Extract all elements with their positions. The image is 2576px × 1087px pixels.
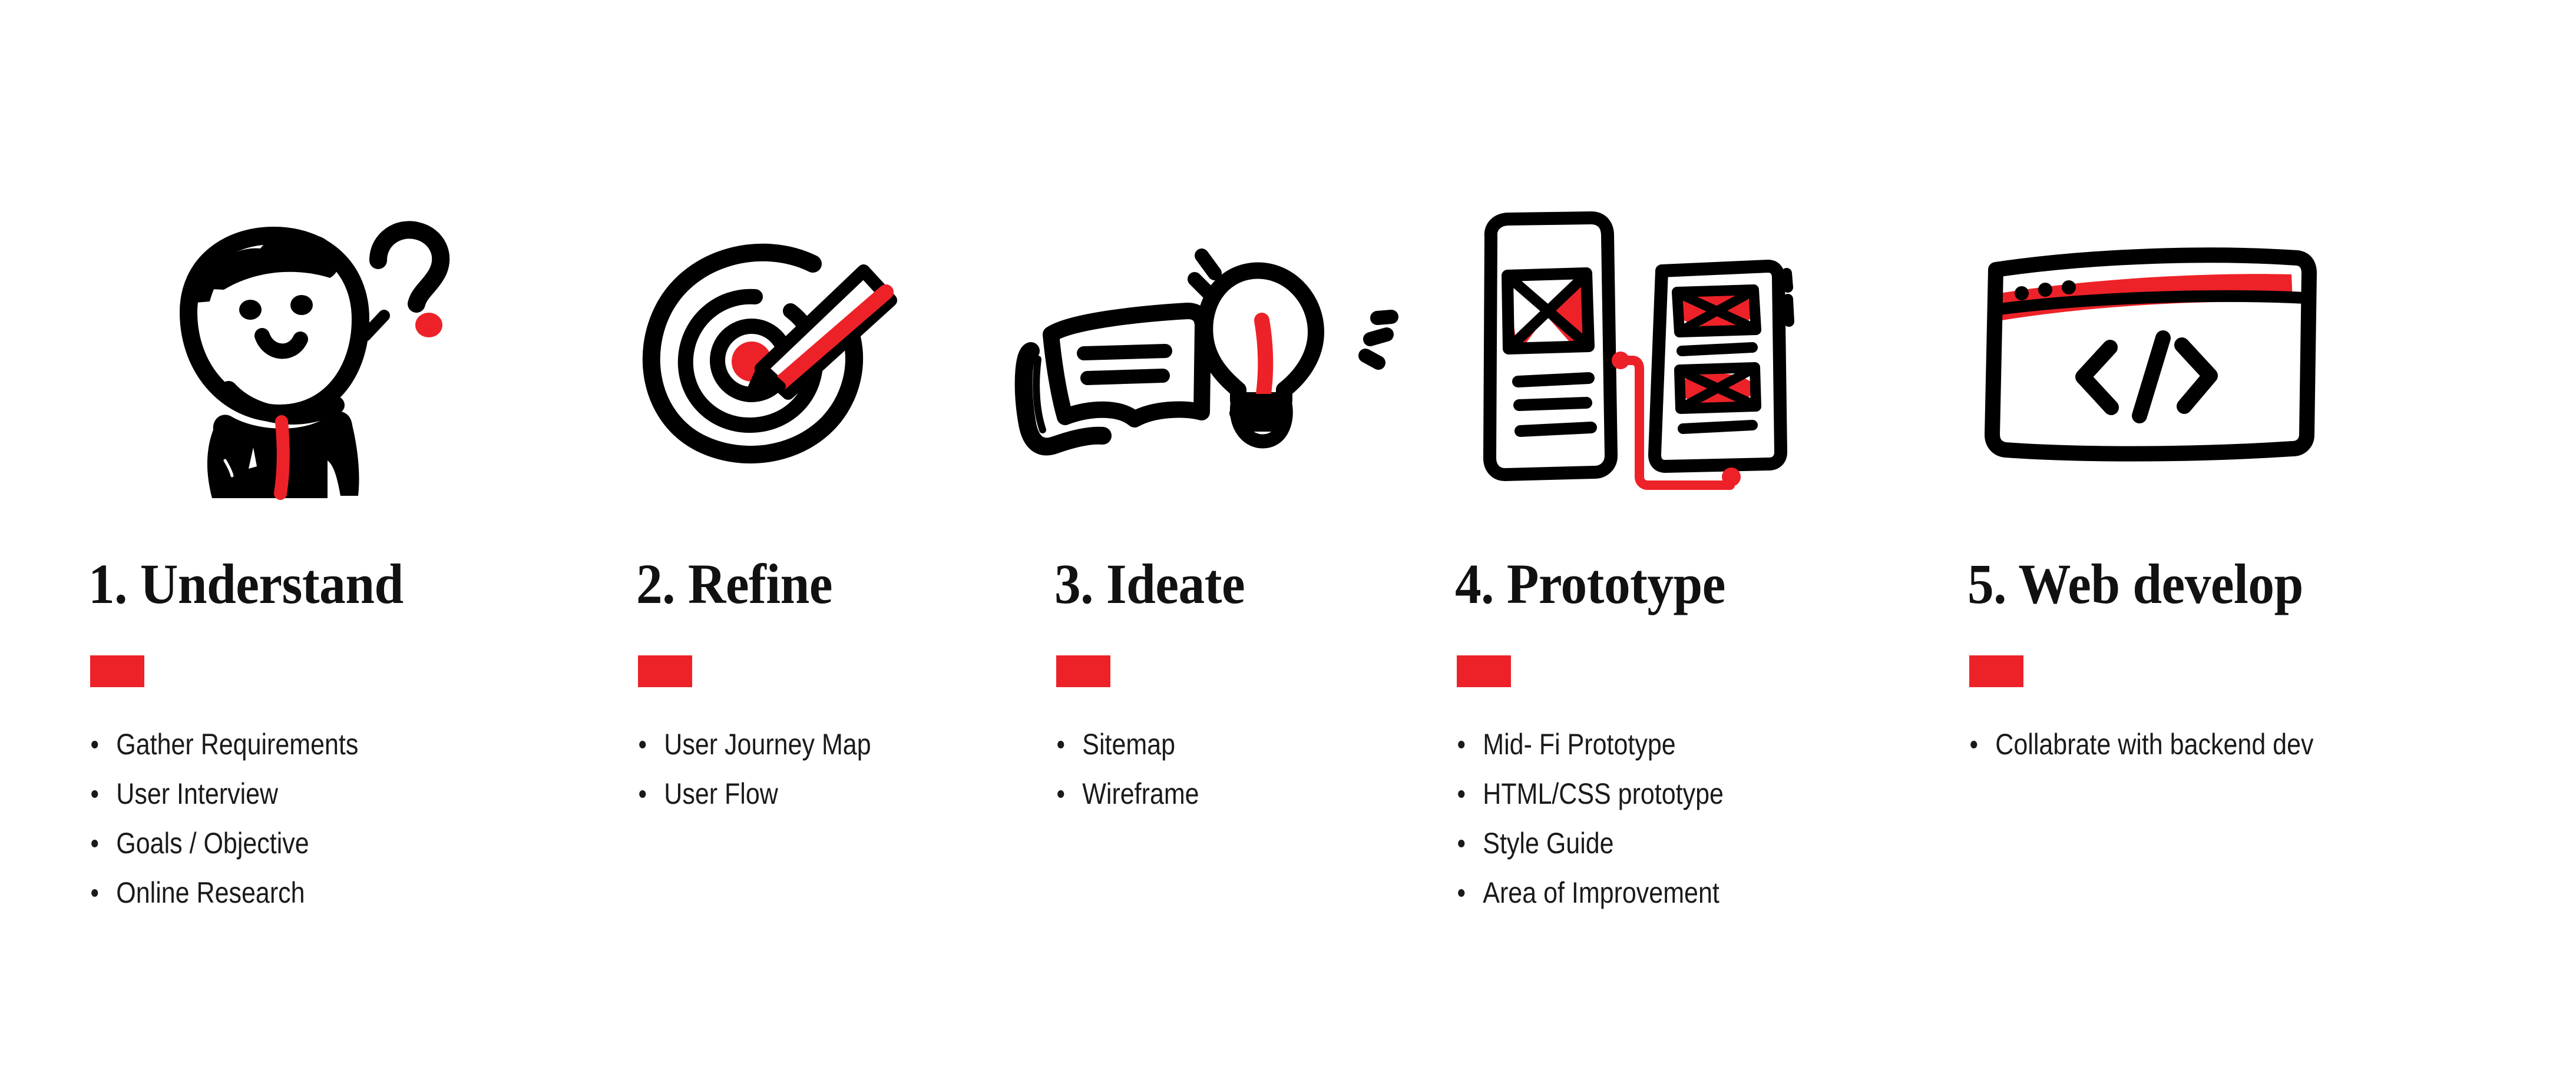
list-item: HTML/CSS prototype: [1455, 769, 1724, 818]
process-infographic: 1. Understand Gather Requirements User I…: [0, 0, 2576, 1087]
list-item-label: Online Research: [116, 876, 305, 909]
list-item-label: Style Guide: [1483, 827, 1613, 860]
list-item-label: Gather Requirements: [116, 728, 358, 761]
list-item-label: HTML/CSS prototype: [1483, 777, 1724, 810]
bullet-dot-icon: [91, 889, 98, 897]
target-with-pencil-icon: [636, 236, 919, 471]
bullet-list: Sitemap Wireframe: [1054, 720, 1223, 818]
bullet-dot-icon: [1057, 741, 1064, 748]
step-title: 4. Prototype: [1455, 554, 1725, 615]
step-column-prototype: 4. Prototype Mid- Fi Prototype HTML/CSS …: [1455, 0, 1926, 1087]
step-column-understand: 1. Understand Gather Requirements User I…: [88, 0, 619, 1087]
red-accent-rule: [1969, 655, 2023, 687]
bullet-list: User Journey Map User Flow: [636, 720, 910, 818]
list-item: User Flow: [636, 769, 871, 818]
list-item: Collabrate with backend dev: [1967, 720, 2314, 769]
bullet-dot-icon: [1458, 790, 1464, 798]
list-item: Gather Requirements: [88, 720, 358, 769]
bullet-dot-icon: [1458, 840, 1464, 847]
list-item-label: User Flow: [664, 777, 778, 810]
list-item: Online Research: [88, 868, 358, 917]
step-title: 5. Web develop: [1967, 554, 2303, 615]
bullet-dot-icon: [91, 741, 98, 748]
bullet-dot-icon: [91, 840, 98, 847]
list-item: Area of Improvement: [1455, 868, 1724, 917]
bullet-dot-icon: [1458, 741, 1464, 748]
step-column-web-develop: 5. Web develop Collabrate with backend d…: [1967, 0, 2557, 1087]
step-column-refine: 2. Refine User Journey Map User Flow: [636, 0, 1037, 1087]
red-accent-rule: [1056, 655, 1110, 687]
red-accent-rule: [90, 655, 144, 687]
list-item: Mid- Fi Prototype: [1455, 720, 1724, 769]
person-with-question-mark-icon: [153, 194, 459, 512]
red-accent-rule: [638, 655, 692, 687]
list-item-label: Goals / Objective: [116, 827, 309, 860]
bullet-list: Collabrate with backend dev: [1967, 720, 2370, 769]
book-and-lightbulb-icon: [1007, 236, 1408, 471]
list-item-label: Wireframe: [1082, 777, 1199, 810]
list-item-label: Area of Improvement: [1483, 876, 1719, 909]
browser-code-window-icon: [1979, 230, 2321, 465]
list-item-label: User Interview: [116, 777, 278, 810]
step-title: 3. Ideate: [1054, 554, 1245, 615]
list-item-label: Collabrate with backend dev: [1995, 728, 2313, 761]
step-title: 1. Understand: [88, 554, 404, 615]
bullet-dot-icon: [639, 741, 646, 748]
bullet-dot-icon: [1458, 889, 1464, 897]
list-item: Goals / Objective: [88, 818, 358, 868]
list-item: Wireframe: [1054, 769, 1199, 818]
bullet-dot-icon: [639, 790, 646, 798]
step-title: 2. Refine: [636, 554, 832, 615]
list-item: User Interview: [88, 769, 358, 818]
bullet-list: Gather Requirements User Interview Goals…: [88, 720, 402, 917]
bullet-dot-icon: [1970, 741, 1977, 748]
list-item-label: User Journey Map: [664, 728, 871, 761]
list-item: User Journey Map: [636, 720, 871, 769]
step-column-ideate: 3. Ideate Sitemap Wireframe: [1054, 0, 1420, 1087]
wireframe-screens-flow-icon: [1434, 200, 1823, 506]
bullet-list: Mid- Fi Prototype HTML/CSS prototype Sty…: [1455, 720, 1767, 917]
list-item-label: Sitemap: [1082, 728, 1175, 761]
list-item: Sitemap: [1054, 720, 1199, 769]
bullet-dot-icon: [91, 790, 98, 798]
red-accent-rule: [1457, 655, 1511, 687]
list-item: Style Guide: [1455, 818, 1724, 868]
list-item-label: Mid- Fi Prototype: [1483, 728, 1675, 761]
bullet-dot-icon: [1057, 790, 1064, 798]
